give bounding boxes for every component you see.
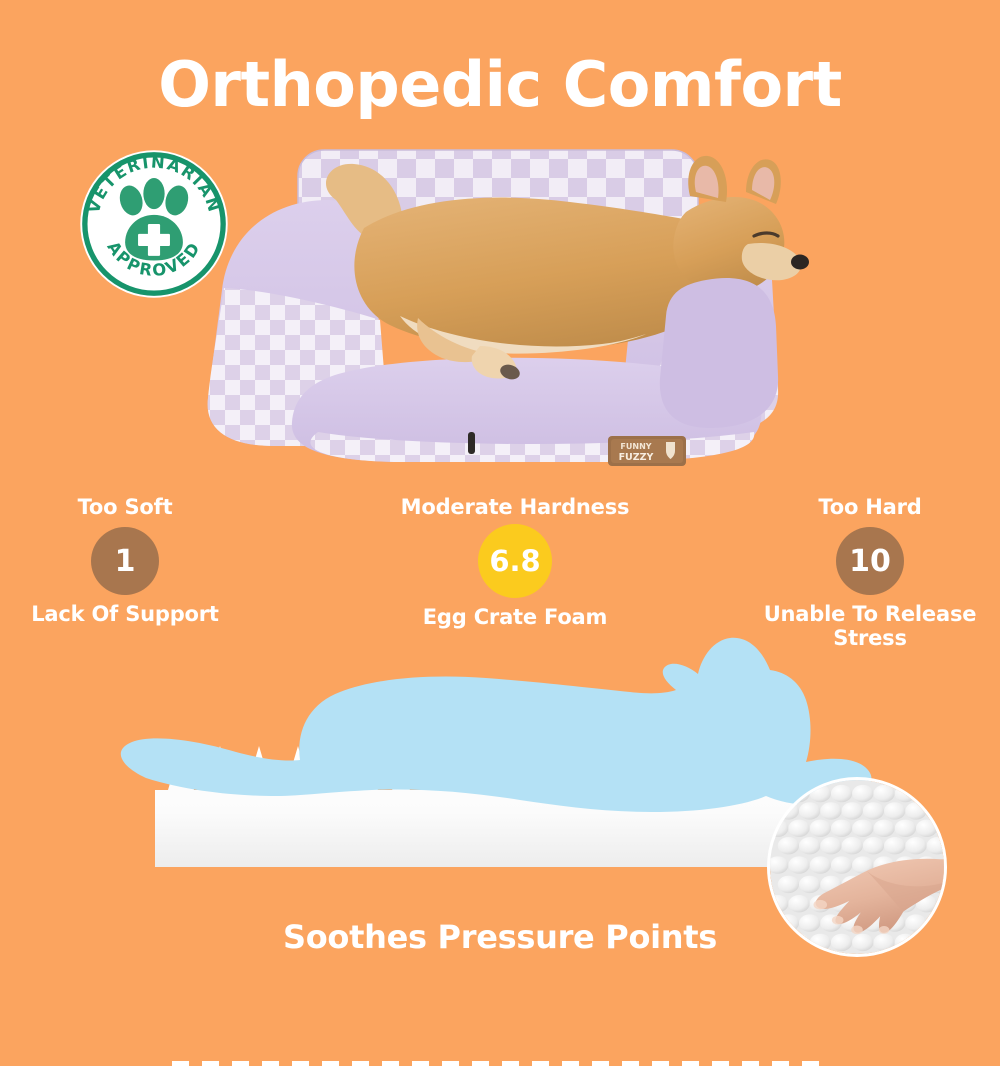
scale-value-dot-1: 1 <box>91 527 159 595</box>
scale-bottom-label-2: Egg Crate Foam <box>375 606 655 630</box>
zipper-pull-icon <box>468 432 475 454</box>
scale-point-too-soft: Too Soft 1 Lack Of Support <box>0 495 250 627</box>
scale-top-label-2: Moderate Hardness <box>375 495 655 519</box>
page-title: Orthopedic Comfort <box>0 48 1000 121</box>
scale-value-dot-3: 10 <box>836 527 904 595</box>
brand-tag-line1: FUNNY <box>620 442 651 451</box>
scale-connector-line <box>172 1061 822 1066</box>
scale-bottom-label-1: Lack Of Support <box>0 603 250 627</box>
footer-caption: Soothes Pressure Points <box>0 918 1000 956</box>
scale-value-dot-2: 6.8 <box>478 524 552 598</box>
dog-silhouette <box>121 638 872 812</box>
product-photo-dog-on-bed: FUNNY FUZZY <box>150 140 850 485</box>
brand-tag: FUNNY FUZZY <box>608 436 686 466</box>
scale-top-label-1: Too Soft <box>0 495 250 519</box>
scale-top-label-3: Too Hard <box>745 495 995 519</box>
dog-nose <box>791 255 809 270</box>
scale-point-too-hard: Too Hard 10 Unable To Release Stress <box>745 495 995 650</box>
scale-point-moderate: Moderate Hardness 6.8 Egg Crate Foam <box>375 495 655 630</box>
brand-tag-line2: FUZZY <box>619 452 654 463</box>
bed-head-pillow <box>660 278 778 428</box>
infographic-canvas: Orthopedic Comfort VETERINARIAN <box>0 0 1000 1000</box>
